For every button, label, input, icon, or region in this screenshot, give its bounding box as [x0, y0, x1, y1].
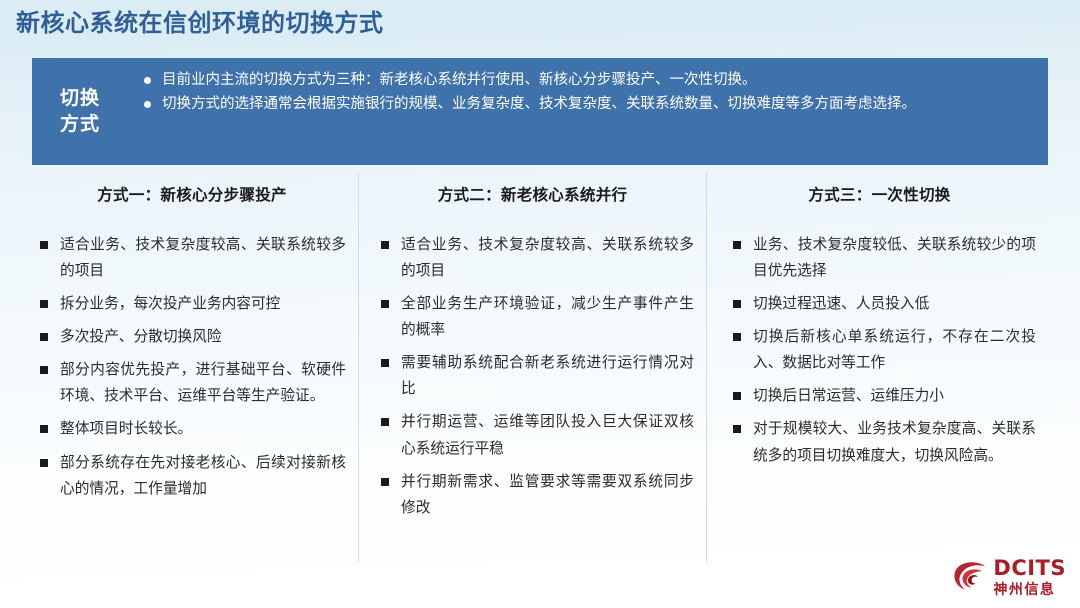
comparison-columns: 方式一：新核心分步骤投产 适合业务、技术复杂度较高、关联系统较多的项目 拆分业务… [32, 172, 1048, 562]
list-item-text: 并行期运营、运维等团队投入巨大保证双核心系统运行平稳 [401, 414, 694, 456]
list-item: 整体项目时长较长。 [38, 416, 346, 442]
square-bullet-icon [40, 241, 48, 249]
column-approach-two: 方式二：新老核心系统并行 适合业务、技术复杂度较高、关联系统较多的项目 全部业务… [358, 172, 706, 562]
list-item-text: 部分系统存在先对接老核心、后续对接新核心的情况，工作量增加 [60, 455, 346, 497]
list-item: 部分系统存在先对接老核心、后续对接新核心的情况，工作量增加 [38, 450, 346, 502]
list-item-text: 适合业务、技术复杂度较高、关联系统较多的项目 [60, 237, 346, 279]
logo-wordmark: DCITS 神州信息 [993, 558, 1066, 596]
list-item-text: 切换后日常运营、运维压力小 [753, 388, 944, 404]
slide-canvas: 新核心系统在信创环境的切换方式 切换 方式 目前业内主流的切换方式为三种：新老核… [0, 0, 1080, 608]
summary-label-line2: 方式 [60, 112, 100, 138]
square-bullet-icon [381, 478, 389, 486]
summary-body: 目前业内主流的切换方式为三种：新老核心系统并行使用、新核心分步骤投产、一次性切换… [128, 58, 1048, 165]
list-item-text: 需要辅助系统配合新老系统进行运行情况对比 [401, 355, 694, 397]
square-bullet-icon [733, 425, 741, 433]
square-bullet-icon [733, 333, 741, 341]
list-item: 切换后日常运营、运维压力小 [731, 383, 1036, 409]
square-bullet-icon [733, 241, 741, 249]
list-item-text: 部分内容优先投产，进行基础平台、软硬件环境、技术平台、运维平台等生产验证。 [60, 362, 346, 404]
square-bullet-icon [381, 300, 389, 308]
list-item: 并行期运营、运维等团队投入巨大保证双核心系统运行平稳 [379, 409, 694, 461]
list-item-text: 对于规模较大、业务技术复杂度高、关联系统多的项目切换难度大，切换风险高。 [753, 421, 1036, 463]
summary-label-line1: 切换 [60, 86, 100, 112]
list-item: 适合业务、技术复杂度较高、关联系统较多的项目 [38, 232, 346, 284]
list-item-text: 适合业务、技术复杂度较高、关联系统较多的项目 [401, 237, 694, 279]
summary-bullet-2: 切换方式的选择通常会根据实施银行的规模、业务复杂度、技术复杂度、关联系统数量、切… [142, 93, 1026, 116]
list-item: 部分内容优先投产，进行基础平台、软硬件环境、技术平台、运维平台等生产验证。 [38, 357, 346, 409]
summary-callout-box: 切换 方式 目前业内主流的切换方式为三种：新老核心系统并行使用、新核心分步骤投产… [32, 58, 1048, 165]
list-item-text: 整体项目时长较长。 [60, 421, 192, 437]
list-item: 全部业务生产环境验证，减少生产事件产生的概率 [379, 291, 694, 343]
square-bullet-icon [733, 392, 741, 400]
list-item-text: 业务、技术复杂度较低、关联系统较少的项目优先选择 [753, 237, 1036, 279]
summary-bullet-2-text: 切换方式的选择通常会根据实施银行的规模、业务复杂度、技术复杂度、关联系统数量、切… [162, 96, 916, 112]
summary-bullet-1-text: 目前业内主流的切换方式为三种：新老核心系统并行使用、新核心分步骤投产、一次性切换… [162, 72, 757, 88]
list-item: 多次投产、分散切换风险 [38, 324, 346, 350]
list-item-text: 并行期新需求、监管要求等需要双系统同步修改 [401, 474, 694, 516]
square-bullet-icon [381, 418, 389, 426]
list-item: 拆分业务，每次投产业务内容可控 [38, 291, 346, 317]
column-approach-one: 方式一：新核心分步骤投产 适合业务、技术复杂度较高、关联系统较多的项目 拆分业务… [32, 172, 358, 562]
logo-text-cn: 神州信息 [993, 582, 1066, 596]
column-one-heading: 方式一：新核心分步骤投产 [38, 172, 346, 232]
list-item: 切换后新核心单系统运行，不存在二次投入、数据比对等工作 [731, 324, 1036, 376]
list-item: 业务、技术复杂度较低、关联系统较少的项目优先选择 [731, 232, 1036, 284]
square-bullet-icon [40, 300, 48, 308]
column-three-heading: 方式三：一次性切换 [731, 172, 1036, 232]
list-item: 对于规模较大、业务技术复杂度高、关联系统多的项目切换难度大，切换风险高。 [731, 416, 1036, 468]
list-item: 适合业务、技术复杂度较高、关联系统较多的项目 [379, 232, 694, 284]
square-bullet-icon [40, 459, 48, 467]
logo-text-en: DCITS [993, 558, 1066, 579]
list-item-text: 切换过程迅速、人员投入低 [753, 296, 929, 312]
column-two-bullet-list: 适合业务、技术复杂度较高、关联系统较多的项目 全部业务生产环境验证，减少生产事件… [379, 232, 694, 522]
bullet-dot-icon [144, 101, 151, 108]
list-item: 需要辅助系统配合新老系统进行运行情况对比 [379, 350, 694, 402]
company-logo: DCITS 神州信息 [951, 556, 1066, 598]
square-bullet-icon [40, 366, 48, 374]
dcits-swoosh-icon [951, 558, 989, 596]
slide-title-bar: 新核心系统在信创环境的切换方式 [0, 0, 1080, 48]
column-one-bullet-list: 适合业务、技术复杂度较高、关联系统较多的项目 拆分业务，每次投产业务内容可控 多… [38, 232, 346, 502]
square-bullet-icon [381, 241, 389, 249]
column-approach-three: 方式三：一次性切换 业务、技术复杂度较低、关联系统较少的项目优先选择 切换过程迅… [706, 172, 1048, 562]
column-three-bullet-list: 业务、技术复杂度较低、关联系统较少的项目优先选择 切换过程迅速、人员投入低 切换… [731, 232, 1036, 469]
list-item: 切换过程迅速、人员投入低 [731, 291, 1036, 317]
square-bullet-icon [381, 359, 389, 367]
list-item-text: 全部业务生产环境验证，减少生产事件产生的概率 [401, 296, 694, 338]
square-bullet-icon [40, 333, 48, 341]
list-item-text: 拆分业务，每次投产业务内容可控 [60, 296, 280, 312]
summary-bullet-1: 目前业内主流的切换方式为三种：新老核心系统并行使用、新核心分步骤投产、一次性切换… [142, 69, 1026, 92]
bullet-dot-icon [144, 77, 151, 84]
page-title: 新核心系统在信创环境的切换方式 [0, 12, 384, 36]
list-item-text: 切换后新核心单系统运行，不存在二次投入、数据比对等工作 [753, 329, 1036, 371]
column-two-heading: 方式二：新老核心系统并行 [379, 172, 694, 232]
summary-label: 切换 方式 [32, 58, 128, 165]
list-item: 并行期新需求、监管要求等需要双系统同步修改 [379, 469, 694, 521]
square-bullet-icon [733, 300, 741, 308]
square-bullet-icon [40, 425, 48, 433]
list-item-text: 多次投产、分散切换风险 [60, 329, 222, 345]
